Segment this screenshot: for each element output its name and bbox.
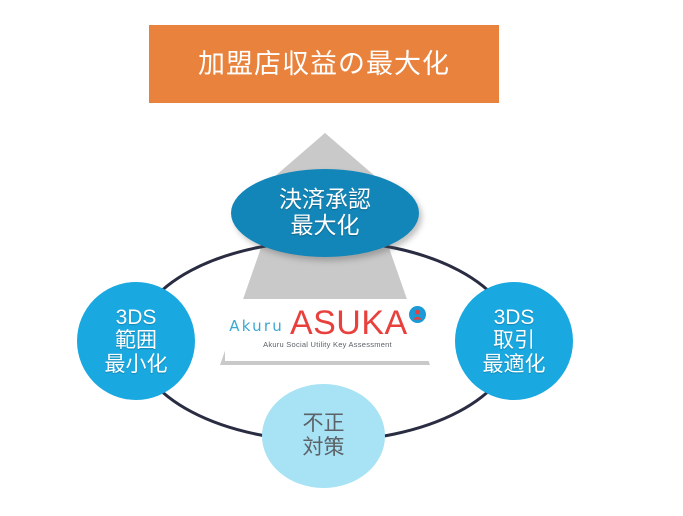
logo-row: Akuru ASUKA bbox=[229, 299, 425, 339]
node-scope-line-3: 最小化 bbox=[105, 353, 168, 377]
asuka-logo-mark-icon bbox=[409, 306, 426, 323]
asuka-logo: Akuru ASUKA Akuru Social Utility Key Ass… bbox=[225, 299, 430, 361]
node-fraud-countermeasure: 不正 対策 bbox=[262, 384, 385, 488]
logo-wordmark: ASUKA bbox=[284, 307, 408, 339]
node-transaction-line-1: 3DS bbox=[494, 306, 535, 330]
node-3ds-scope: 3DS 範囲 最小化 bbox=[77, 282, 195, 400]
logo-akuru-text: Akuru bbox=[229, 317, 284, 339]
node-transaction-line-2: 取引 bbox=[493, 329, 535, 353]
node-scope-line-1: 3DS bbox=[116, 306, 157, 330]
node-approval-line-1: 決済承認 bbox=[279, 187, 371, 213]
cycle-diagram: Akuru ASUKA Akuru Social Utility Key Ass… bbox=[0, 0, 683, 516]
logo-tagline: Akuru Social Utility Key Assessment bbox=[263, 340, 392, 349]
node-transaction-line-3: 最適化 bbox=[483, 353, 546, 377]
node-scope-line-2: 範囲 bbox=[115, 329, 157, 353]
node-fraud-line-2: 対策 bbox=[303, 436, 345, 460]
node-3ds-transaction: 3DS 取引 最適化 bbox=[455, 282, 573, 400]
node-approval-line-2: 最大化 bbox=[291, 213, 360, 239]
node-payment-approval: 決済承認 最大化 bbox=[231, 169, 419, 257]
node-fraud-line-1: 不正 bbox=[303, 412, 345, 436]
slide-canvas: 加盟店収益の最大化 Akuru ASUKA bbox=[0, 0, 683, 516]
